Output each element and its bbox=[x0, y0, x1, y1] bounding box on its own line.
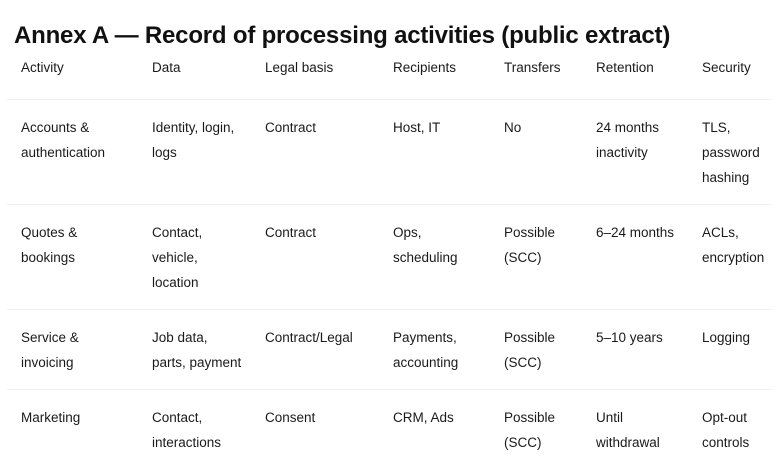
cell-legal-basis: Consent bbox=[251, 390, 379, 469]
cell-legal-basis: Contract bbox=[251, 205, 379, 310]
cell-retention: 6–24 months bbox=[582, 205, 688, 310]
cell-transfers: No bbox=[490, 100, 582, 205]
table-header: Activity Data Legal basis Recipients Tra… bbox=[7, 55, 772, 100]
cell-data: Job data, parts, payment bbox=[138, 310, 251, 390]
table-header-row: Activity Data Legal basis Recipients Tra… bbox=[7, 55, 772, 100]
table-row: Service & invoicing Job data, parts, pay… bbox=[7, 310, 772, 390]
column-header-recipients: Recipients bbox=[379, 55, 490, 100]
cell-transfers: Possible (SCC) bbox=[490, 310, 582, 390]
column-header-legal-basis: Legal basis bbox=[251, 55, 379, 100]
column-header-retention: Retention bbox=[582, 55, 688, 100]
cell-retention: Until withdrawal bbox=[582, 390, 688, 469]
table-body: Accounts & authentication Identity, logi… bbox=[7, 100, 772, 469]
cell-retention: 5–10 years bbox=[582, 310, 688, 390]
cell-activity: Quotes & bookings bbox=[7, 205, 138, 310]
table-row: Accounts & authentication Identity, logi… bbox=[7, 100, 772, 205]
cell-security: TLS, password hashing bbox=[688, 100, 772, 205]
cell-data: Contact, vehicle, location bbox=[138, 205, 251, 310]
column-header-activity: Activity bbox=[7, 55, 138, 100]
cell-security: Logging bbox=[688, 310, 772, 390]
processing-activities-table: Activity Data Legal basis Recipients Tra… bbox=[7, 55, 772, 469]
cell-retention: 24 months inactivity bbox=[582, 100, 688, 205]
cell-data: Contact, interactions bbox=[138, 390, 251, 469]
cell-recipients: CRM, Ads bbox=[379, 390, 490, 469]
column-header-transfers: Transfers bbox=[490, 55, 582, 100]
cell-recipients: Host, IT bbox=[379, 100, 490, 205]
cell-legal-basis: Contract bbox=[251, 100, 379, 205]
cell-transfers: Possible (SCC) bbox=[490, 390, 582, 469]
document-page: Annex A — Record of processing activitie… bbox=[0, 0, 779, 444]
cell-legal-basis: Contract/Legal bbox=[251, 310, 379, 390]
cell-security: Opt-out controls bbox=[688, 390, 772, 469]
cell-activity: Accounts & authentication bbox=[7, 100, 138, 205]
cell-activity: Service & invoicing bbox=[7, 310, 138, 390]
cell-recipients: Payments, accounting bbox=[379, 310, 490, 390]
cell-activity: Marketing bbox=[7, 390, 138, 469]
page-title: Annex A — Record of processing activitie… bbox=[14, 20, 670, 52]
cell-security: ACLs, encryption bbox=[688, 205, 772, 310]
cell-data: Identity, login, logs bbox=[138, 100, 251, 205]
table-row: Marketing Contact, interactions Consent … bbox=[7, 390, 772, 469]
cell-transfers: Possible (SCC) bbox=[490, 205, 582, 310]
column-header-security: Security bbox=[688, 55, 772, 100]
cell-recipients: Ops, scheduling bbox=[379, 205, 490, 310]
table-row: Quotes & bookings Contact, vehicle, loca… bbox=[7, 205, 772, 310]
column-header-data: Data bbox=[138, 55, 251, 100]
